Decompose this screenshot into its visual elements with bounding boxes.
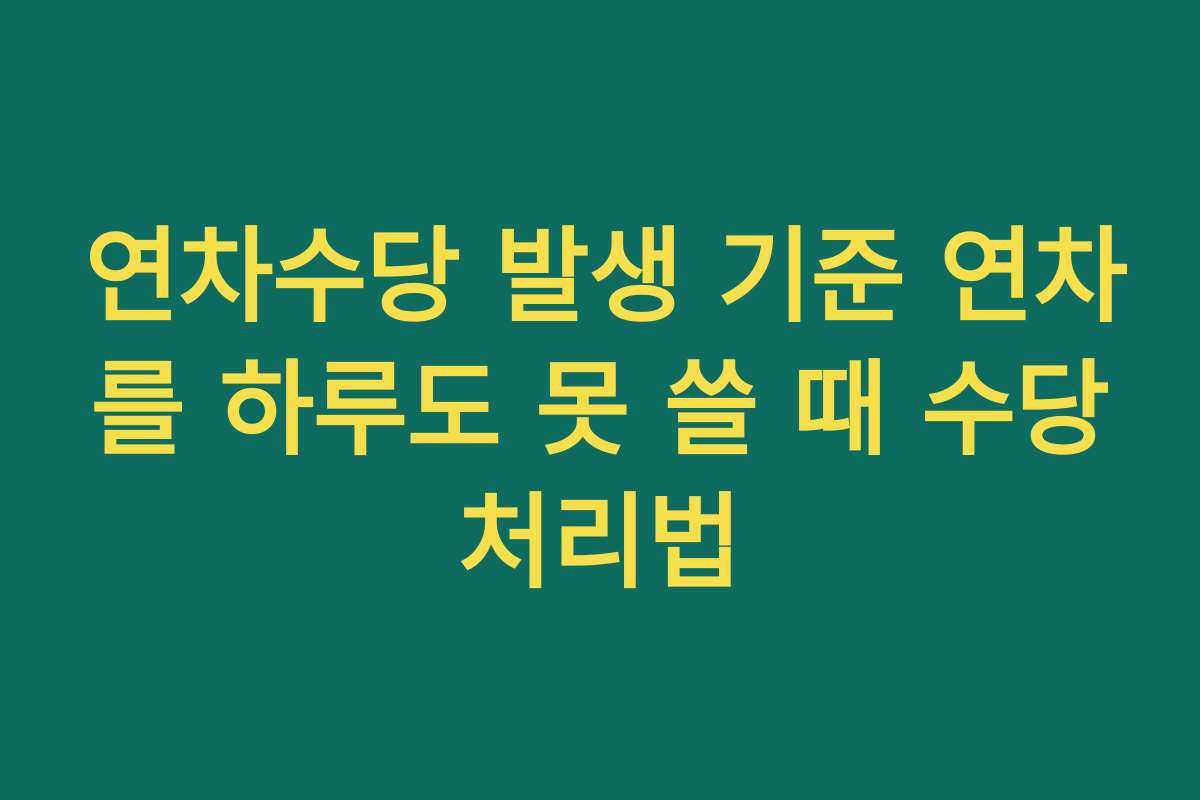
title-block: 연차수당 발생 기준 연차 를 하루도 못 쓸 때 수당 처리법 xyxy=(85,211,1115,610)
title-line-1: 연차수당 발생 기준 연차 xyxy=(85,211,1115,344)
title-line-3: 처리법 xyxy=(85,477,1115,610)
thumbnail-canvas: 연차수당 발생 기준 연차 를 하루도 못 쓸 때 수당 처리법 xyxy=(0,0,1200,800)
title-line-2: 를 하루도 못 쓸 때 수당 xyxy=(85,344,1115,477)
